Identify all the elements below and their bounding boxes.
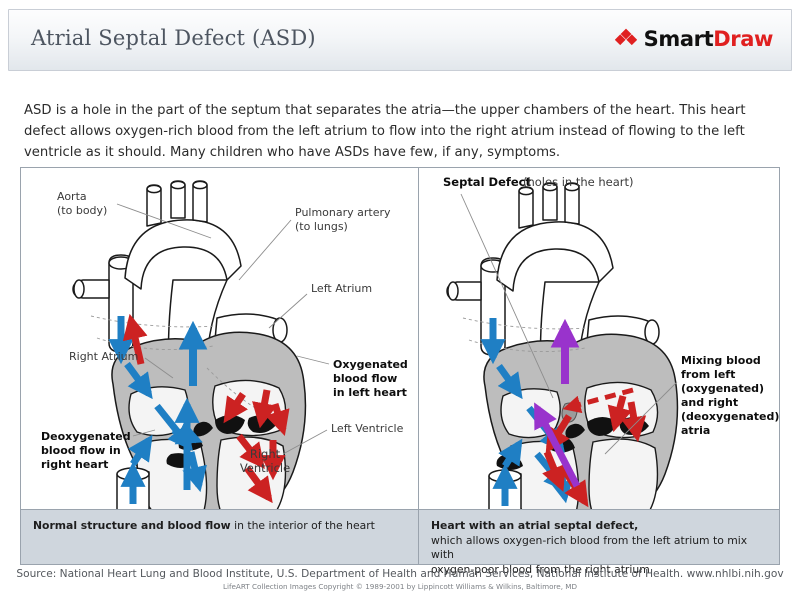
svg-text:Left Ventricle: Left Ventricle xyxy=(331,422,404,435)
panel-asd-heart: Septal Defect (holes in the heart) Mixin… xyxy=(419,168,779,510)
svg-text:Pulmonary artery: Pulmonary artery xyxy=(295,206,391,219)
smartdraw-diamond-icon xyxy=(615,28,637,50)
svg-text:right heart: right heart xyxy=(41,458,108,471)
svg-text:Ventricle: Ventricle xyxy=(240,461,290,475)
page-title: Atrial Septal Defect (ASD) xyxy=(31,26,316,50)
caption-bar-right: Heart with an atrial septal defect,which… xyxy=(419,509,779,564)
caption-left-text: Normal structure and blood flow in the i… xyxy=(33,519,410,534)
svg-text:Right: Right xyxy=(250,447,281,461)
svg-text:(oxygenated): (oxygenated) xyxy=(681,382,764,395)
panel-normal-heart: Aorta (to body) Pulmonary artery (to lun… xyxy=(21,168,419,510)
svg-text:blood flow: blood flow xyxy=(333,372,397,385)
caption-right-bold: Heart with an atrial septal defect, xyxy=(431,519,638,532)
slide-header: Atrial Septal Defect (ASD) SmartDraw xyxy=(8,9,792,71)
callout-oxygenated-flow: Oxygenated blood flow in left heart xyxy=(297,356,408,399)
svg-text:blood flow in: blood flow in xyxy=(41,444,121,457)
intro-paragraph: ASD is a hole in the part of the septum … xyxy=(24,100,776,163)
svg-text:(to lungs): (to lungs) xyxy=(295,220,348,233)
smartdraw-logo: SmartDraw xyxy=(615,28,773,50)
caption-bar-left: Normal structure and blood flow in the i… xyxy=(21,509,419,564)
svg-text:Right Atrium: Right Atrium xyxy=(69,350,138,363)
footer-copyright: LifeART Collection Images Copyright © 19… xyxy=(0,581,800,592)
svg-text:(deoxygenated): (deoxygenated) xyxy=(681,410,779,423)
svg-text:Septal Defect: Septal Defect xyxy=(443,175,531,189)
logo-wordmark: SmartDraw xyxy=(644,28,773,50)
svg-text:Deoxygenated: Deoxygenated xyxy=(41,430,131,443)
logo-smart-text: Smart xyxy=(644,27,714,51)
logo-draw-text: Draw xyxy=(713,27,773,51)
caption-right-line2: which allows oxygen-rich blood from the … xyxy=(431,534,747,562)
label-pulmonary-artery: Pulmonary artery (to lungs) xyxy=(239,206,391,280)
svg-text:atria: atria xyxy=(681,424,710,437)
svg-text:Aorta: Aorta xyxy=(57,190,87,203)
svg-text:Oxygenated: Oxygenated xyxy=(333,358,408,371)
svg-text:in left heart: in left heart xyxy=(333,386,407,399)
footer-source: Source: National Heart Lung and Blood In… xyxy=(0,568,800,581)
svg-text:(to body): (to body) xyxy=(57,204,107,217)
footer: Source: National Heart Lung and Blood In… xyxy=(0,568,800,592)
svg-text:Left Atrium: Left Atrium xyxy=(311,282,372,295)
svg-text:Mixing blood: Mixing blood xyxy=(681,354,761,367)
caption-left-bold: Normal structure and blood flow xyxy=(33,519,231,532)
caption-left-rest: in the interior of the heart xyxy=(231,519,375,532)
svg-text:(holes in the heart): (holes in the heart) xyxy=(523,175,634,189)
svg-text:from left: from left xyxy=(681,368,735,381)
svg-text:and right: and right xyxy=(681,396,738,409)
figure-frame: Aorta (to body) Pulmonary artery (to lun… xyxy=(20,167,780,565)
